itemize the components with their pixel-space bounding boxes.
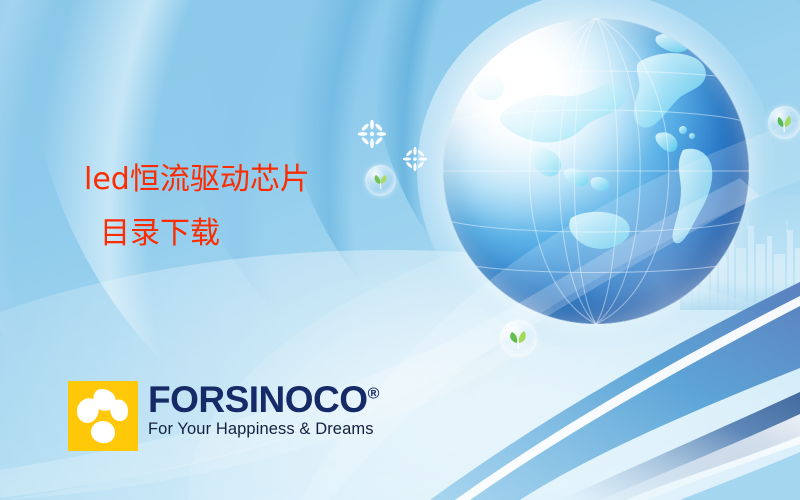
- bubble-green-leaf-icon: [768, 106, 800, 139]
- brand-logo-text: FORSINOCO® For Your Happiness & Dreams: [148, 381, 379, 438]
- four-petal-pinwheel-icon: [68, 381, 138, 451]
- brand-logo: FORSINOCO® For Your Happiness & Dreams: [68, 381, 379, 451]
- bubble-green-leaf-icon: [500, 320, 537, 357]
- starburst-icon: [358, 120, 386, 153]
- brand-wordmark: FORSINOCO®: [148, 382, 379, 417]
- headline-line-2: 目录下载: [84, 219, 414, 249]
- brand-tagline: For Your Happiness & Dreams: [148, 420, 379, 438]
- registered-trademark-icon: ®: [368, 386, 379, 403]
- banner-canvas: led恒流驱动芯片 目录下载 FORSINOCO® For Your Happ: [0, 0, 800, 500]
- headline-line-1: led恒流驱动芯片: [84, 165, 414, 195]
- brand-wordmark-text: FORSINOCO: [148, 379, 368, 420]
- headline-block: led恒流驱动芯片 目录下载: [84, 165, 414, 249]
